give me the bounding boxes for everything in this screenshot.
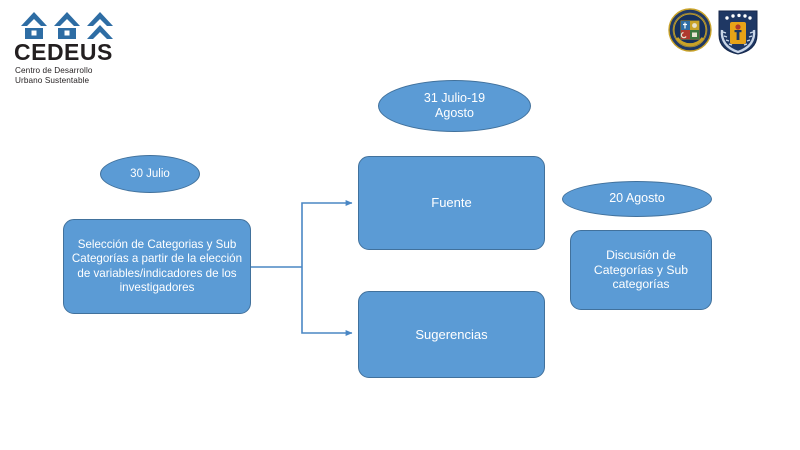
milestone-ellipse-20-agosto[interactable]: 20 Agosto [562,181,712,217]
milestone-label: 20 Agosto [563,191,711,206]
process-box-label: Fuente [359,195,544,211]
cedeus-wordmark: CEDEUS [14,40,126,64]
process-box-fuente[interactable]: Fuente [358,156,545,250]
process-box-seleccion-categorias[interactable]: Selección de Categorias y Sub Categorías… [63,219,251,314]
udec-crest-icon [716,8,760,56]
process-box-discusion-categorias[interactable]: Discusión de Categorías y Sub categorías [570,230,712,310]
puc-crest-icon [668,8,712,52]
cedeus-tagline-line2: Urbano Sustentable [15,76,127,86]
milestone-label: 31 Julio-19 Agosto [379,91,530,122]
cedeus-tagline-line1: Centro de Desarrollo [15,66,127,76]
slide-canvas: CEDEUS Centro de Desarrollo Urbano Suste… [0,0,800,450]
milestone-ellipse-30-julio[interactable]: 30 Julio [100,155,200,193]
process-box-label: Selección de Categorias y Sub Categorías… [64,238,250,295]
process-box-sugerencias[interactable]: Sugerencias [358,291,545,378]
process-box-label: Sugerencias [359,327,544,343]
process-box-label: Discusión de Categorías y Sub categorías [571,248,711,293]
milestone-label: 30 Julio [101,167,199,181]
cedeus-logo: CEDEUS Centro de Desarrollo Urbano Suste… [14,6,126,90]
three-house-chevrons-icon [19,8,119,40]
milestone-ellipse-31-julio-19-agosto[interactable]: 31 Julio-19 Agosto [378,80,531,132]
